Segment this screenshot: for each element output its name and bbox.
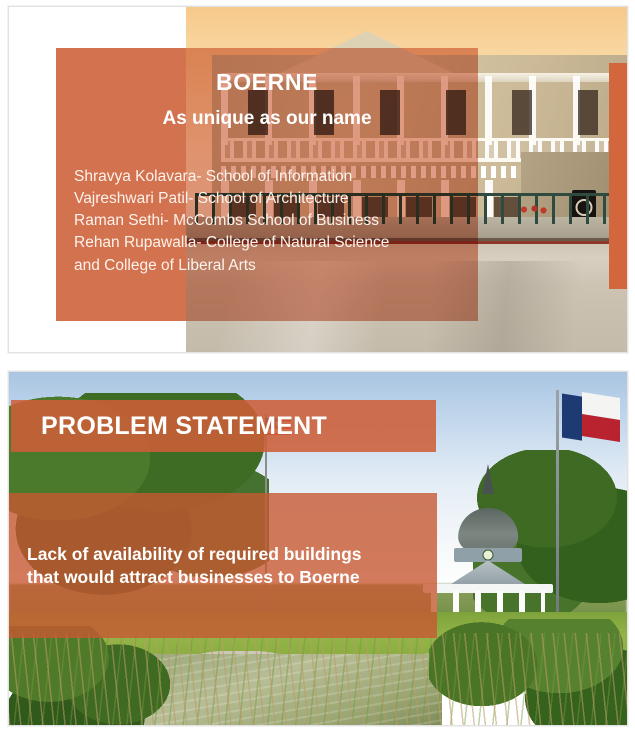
texas-flagpole [556, 390, 559, 637]
gazebo-spire [482, 464, 494, 494]
slide-boerne-title[interactable]: BOERNE As unique as our name Shravya Kol… [8, 6, 628, 353]
slide2-title: PROBLEM STATEMENT [11, 400, 436, 452]
slide2-body-text: Lack of availability of required buildin… [9, 493, 437, 638]
slide1-title: BOERNE [74, 69, 460, 96]
slide1-author-list: Shravya Kolavara- School of Information … [74, 166, 460, 277]
slide-problem-statement[interactable]: PROBLEM STATEMENT Lack of availability o… [8, 371, 628, 726]
flag-red-stripe [582, 414, 620, 442]
author-line: Shravya Kolavara- School of Information [74, 166, 460, 188]
slide1-accent-bar [609, 63, 628, 289]
park-gazebo [423, 464, 553, 633]
author-line: and College of Liberal Arts [74, 255, 460, 277]
gazebo-clock [454, 548, 521, 562]
texas-flag [562, 395, 620, 439]
flag-blue-field [562, 393, 582, 440]
author-line: Vajreshwari Patil- School of Architectur… [74, 188, 460, 210]
slide-deck: BOERNE As unique as our name Shravya Kol… [0, 0, 635, 732]
flower-planter [518, 205, 548, 214]
slide1-text-block: BOERNE As unique as our name Shravya Kol… [56, 48, 478, 321]
author-line: Rehan Rupawalla- College of Natural Scie… [74, 232, 460, 254]
foreground-ornamental-grass [9, 633, 627, 725]
body-line: that would attract businesses to Boerne [27, 566, 362, 589]
slide1-subtitle: As unique as our name [74, 108, 460, 130]
author-line: Raman Sethi- McCombs School of Business [74, 210, 460, 232]
body-line: Lack of availability of required buildin… [27, 543, 362, 566]
